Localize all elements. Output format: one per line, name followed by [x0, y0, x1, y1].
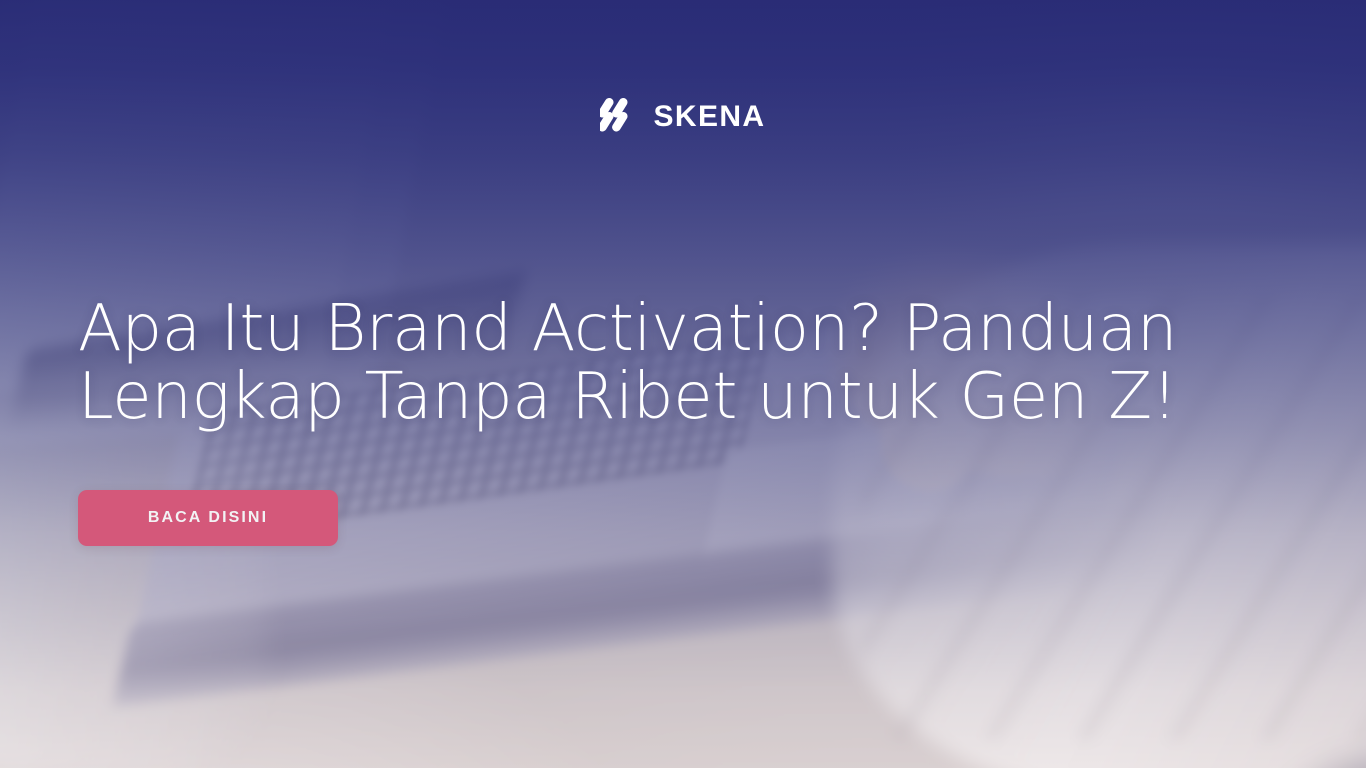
skena-slash-mark-icon: [600, 96, 640, 139]
hero-banner: SKENA Apa Itu Brand Activation? Panduan …: [0, 0, 1366, 768]
brand-logo[interactable]: SKENA: [0, 96, 1366, 138]
hero-content: SKENA Apa Itu Brand Activation? Panduan …: [0, 0, 1366, 768]
page-title: Apa Itu Brand Activation? Panduan Lengka…: [78, 295, 1198, 431]
read-here-button[interactable]: BACA DISINI: [78, 490, 338, 546]
brand-name: SKENA: [653, 102, 765, 132]
